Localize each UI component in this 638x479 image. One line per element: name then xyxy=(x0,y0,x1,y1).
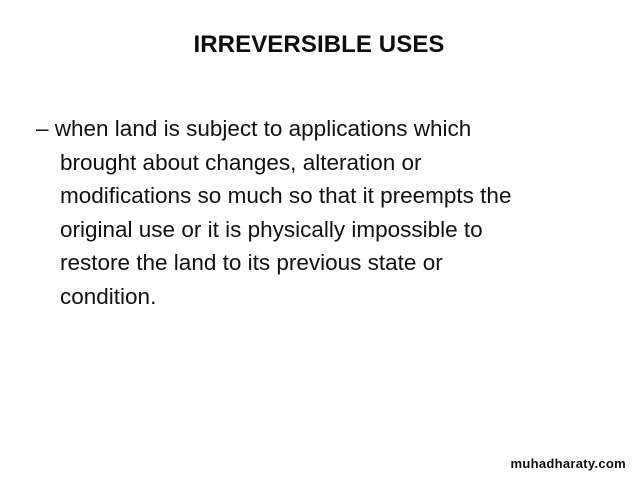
watermark-label: muhadharaty.com xyxy=(510,456,626,471)
slide-canvas: IRREVERSIBLE USES – when land is subject… xyxy=(0,0,638,479)
body-line-5: restore the land to its previous state o… xyxy=(36,246,610,280)
body-line-3: modifications so much so that it preempt… xyxy=(36,179,610,213)
slide-body-text: – when land is subject to applications w… xyxy=(36,112,610,313)
body-line-2: brought about changes, alteration or xyxy=(36,146,610,180)
body-line-6: condition. xyxy=(36,280,610,314)
body-line-1: – when land is subject to applications w… xyxy=(36,112,610,146)
body-line-4: original use or it is physically impossi… xyxy=(36,213,610,247)
page-title: IRREVERSIBLE USES xyxy=(0,30,638,60)
